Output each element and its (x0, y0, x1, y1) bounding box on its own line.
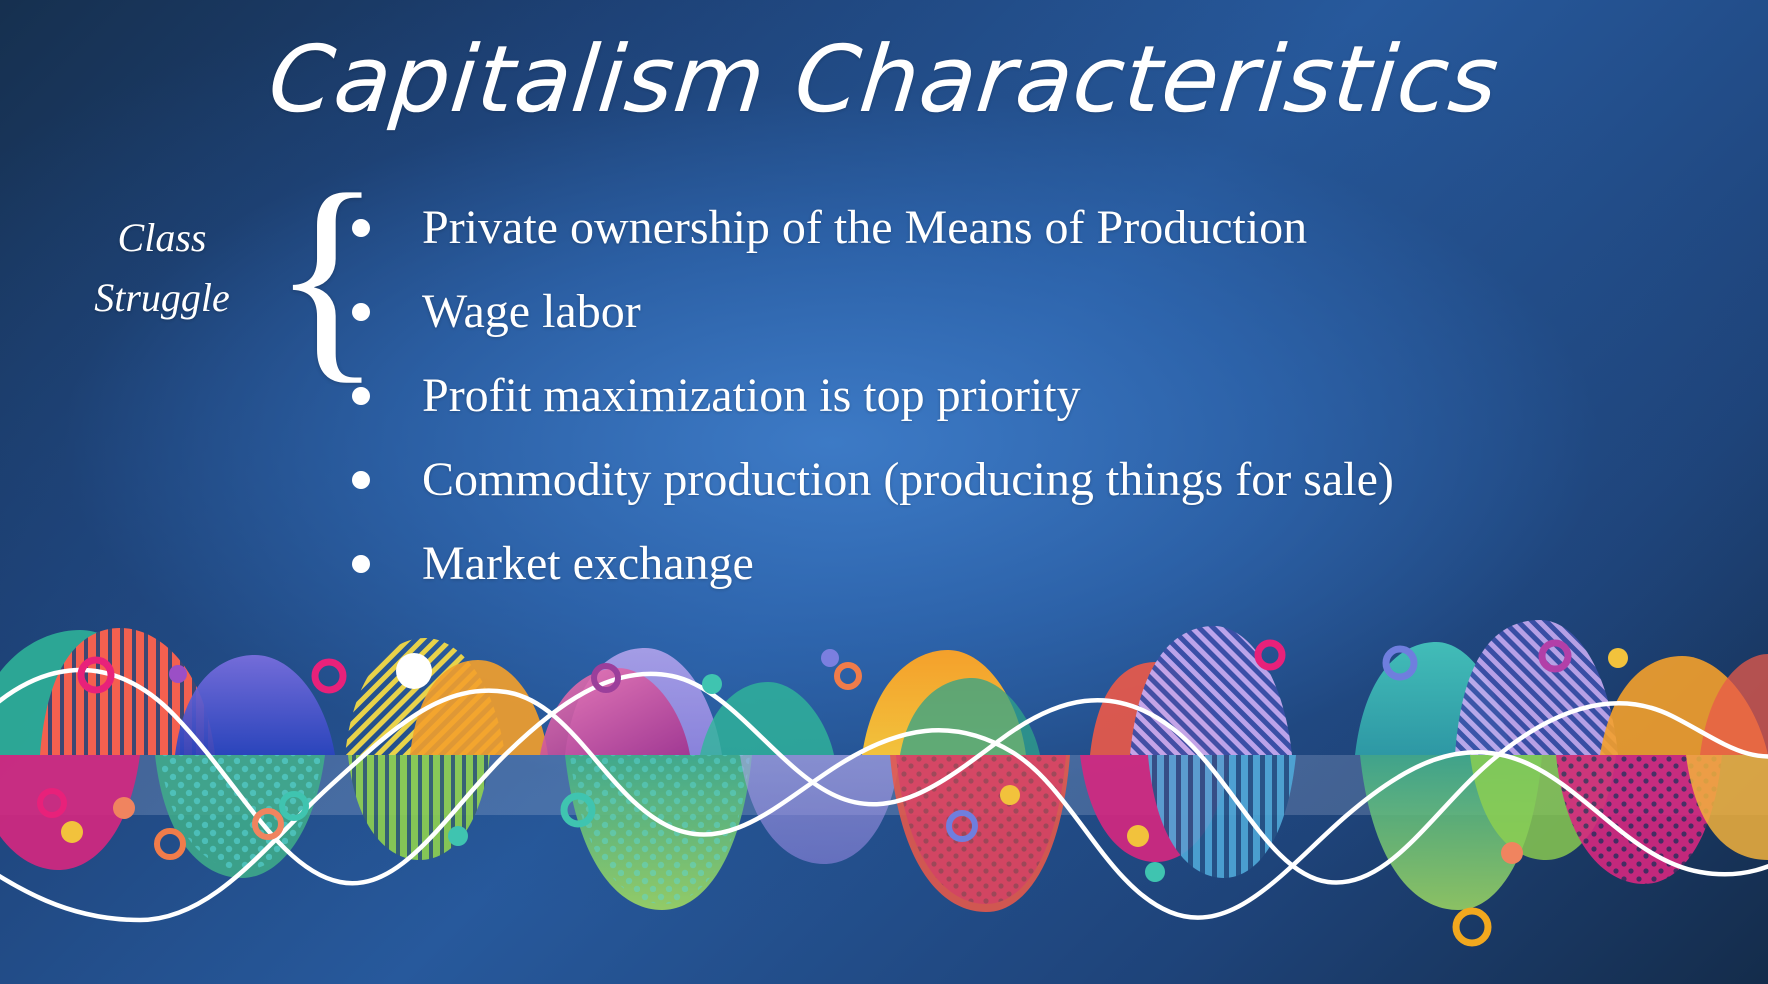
bullet-dot-icon (352, 471, 370, 489)
wave-decoration-graphic (0, 620, 1768, 984)
list-item: Profit maximization is top priority (352, 364, 1732, 448)
characteristics-list: Private ownership of the Means of Produc… (352, 196, 1732, 616)
list-item: Private ownership of the Means of Produc… (352, 196, 1732, 280)
list-item: Commodity production (producing things f… (352, 448, 1732, 532)
list-item-label: Private ownership of the Means of Produc… (422, 196, 1307, 260)
class-struggle-line-2: Struggle (62, 268, 262, 328)
bullet-dot-icon (352, 555, 370, 573)
list-item-label: Market exchange (422, 532, 754, 596)
list-item: Wage labor (352, 280, 1732, 364)
wave-upper-shapes (0, 620, 1768, 755)
list-item-label: Commodity production (producing things f… (422, 448, 1394, 512)
list-item-label: Wage labor (422, 280, 641, 344)
class-struggle-line-1: Class (62, 208, 262, 268)
list-item: Market exchange (352, 532, 1732, 616)
bullet-dot-icon (352, 219, 370, 237)
wave-lower-shapes (0, 755, 1768, 912)
bullet-dot-icon (352, 387, 370, 405)
slide-canvas: Capitalism Characteristics Class Struggl… (0, 0, 1768, 984)
bullet-dot-icon (352, 303, 370, 321)
page-title: Capitalism Characteristics (0, 22, 1768, 137)
list-item-label: Profit maximization is top priority (422, 364, 1081, 428)
class-struggle-label: Class Struggle (62, 208, 262, 328)
